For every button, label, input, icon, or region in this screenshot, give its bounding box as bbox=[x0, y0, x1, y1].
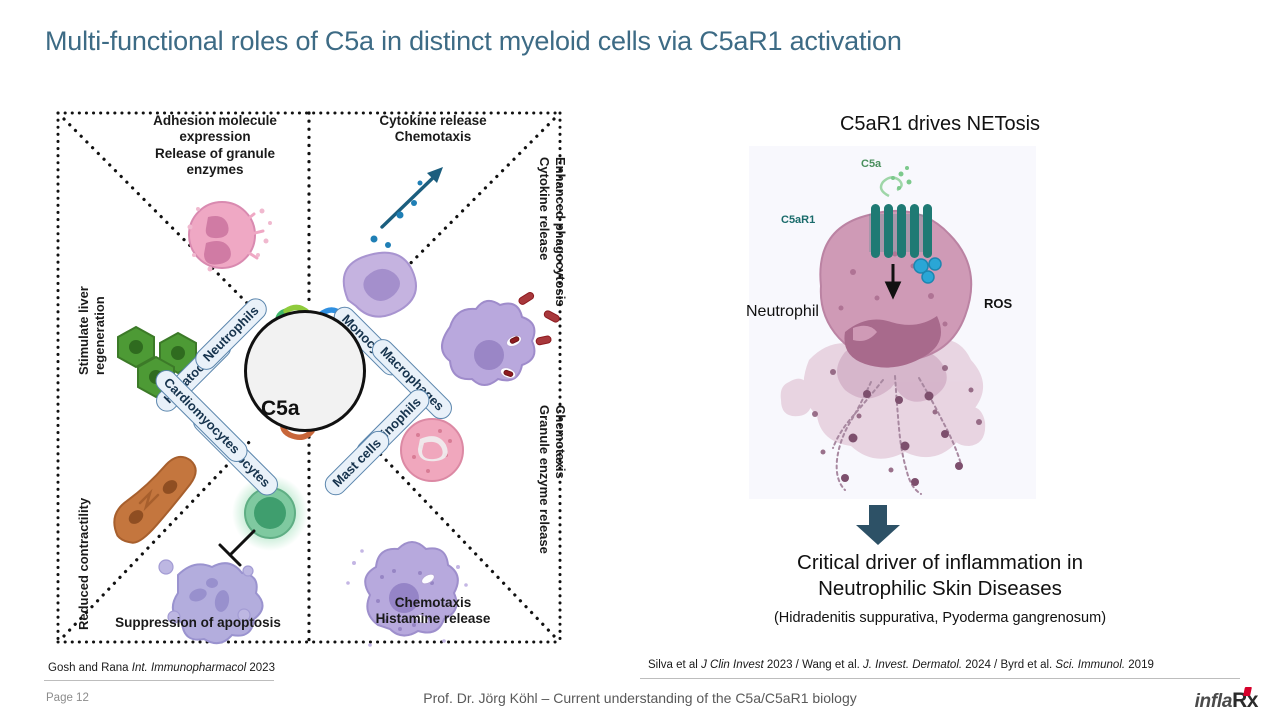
side-text-reduced-contractility: Reduced contractility bbox=[76, 498, 92, 630]
inflarx-logo: inflaRx bbox=[1195, 690, 1258, 711]
c5a-ligand-graphic bbox=[881, 166, 912, 196]
conclusion-line-2: Neutrophilic Skin Diseases bbox=[818, 577, 1062, 600]
citation-left-journal: Int. Immunopharmacol bbox=[132, 662, 246, 674]
netosis-graphics bbox=[749, 146, 1036, 499]
citation-r1-journal: J Clin Invest bbox=[701, 659, 764, 671]
slide-canvas: Multi-functional roles of C5a in distinc… bbox=[0, 0, 1280, 720]
quadrant-text-top-left: Adhesion moleculeexpressionRelease of gr… bbox=[120, 113, 310, 179]
inhibition-arrow-graphic bbox=[220, 531, 254, 565]
c5a-ligand-label: C5a bbox=[861, 158, 881, 170]
logo-accent-mark bbox=[1243, 687, 1252, 696]
side-text-chemotaxis-granule: ChemotaxisGranule enzyme release bbox=[537, 405, 568, 554]
netosis-figure: C5a C5aR1 ROS bbox=[749, 146, 1036, 499]
citation-rule-right bbox=[640, 678, 1240, 679]
netosis-panel: C5aR1 drives NETosis bbox=[620, 105, 1260, 650]
citation-r2-journal: J. Invest. Dermatol. bbox=[863, 659, 962, 671]
cell-cardiomyocyte-graphic bbox=[110, 456, 200, 544]
chemotaxis-arrow-graphic bbox=[371, 167, 444, 248]
c5ar1-receptor-label: C5aR1 bbox=[781, 214, 815, 226]
citation-rule-left bbox=[44, 680, 274, 681]
citation-r3-journal: Sci. Immunol. bbox=[1055, 659, 1125, 671]
citation-r3-authors: Byrd et al. bbox=[1000, 659, 1055, 671]
conclusion-subtext: (Hidradenitis suppurativa, Pyoderma gang… bbox=[620, 610, 1260, 626]
citation-r2-year: 2024 / bbox=[962, 659, 1000, 671]
c5a-center-circle: C5a bbox=[244, 310, 366, 432]
cell-neutrophil-graphic bbox=[188, 202, 273, 272]
citation-r2-authors: Wang et al. bbox=[802, 659, 863, 671]
citation-left: Gosh and Rana Int. Immunopharmacol 2023 bbox=[48, 662, 275, 674]
citation-right: Silva et al J Clin Invest 2023 / Wang et… bbox=[648, 659, 1154, 671]
citation-left-authors: Gosh and Rana bbox=[48, 662, 132, 674]
radial-diagram: C5a Adhesion moleculeexpressionRelease o… bbox=[48, 105, 570, 650]
down-arrow-icon bbox=[848, 505, 908, 545]
neutrophil-label: Neutrophil bbox=[746, 303, 819, 321]
citation-r3-year: 2019 bbox=[1125, 659, 1154, 671]
netosis-figure-title: C5aR1 drives NETosis bbox=[620, 113, 1260, 136]
conclusion-heading: Critical driver of inflammation in Neutr… bbox=[620, 550, 1260, 602]
footer-title: Prof. Dr. Jörg Köhl – Current understand… bbox=[0, 690, 1280, 706]
page-title: Multi-functional roles of C5a in distinc… bbox=[45, 26, 1145, 57]
quadrant-text-bottom-right: ChemotaxisHistamine release bbox=[333, 595, 533, 628]
citation-r1-year: 2023 / bbox=[764, 659, 802, 671]
cell-eosinophil-graphic bbox=[401, 419, 463, 481]
logo-text-infla: infla bbox=[1195, 691, 1233, 712]
c5a-center-label: C5a bbox=[261, 397, 300, 421]
c5a-radial-diagram-panel: C5a Adhesion moleculeexpressionRelease o… bbox=[48, 105, 570, 650]
quadrant-text-top-right: Cytokine releaseChemotaxis bbox=[338, 113, 528, 146]
side-text-stimulate-liver: Stimulate liverregeneration bbox=[76, 286, 107, 375]
citation-r1-authors: Silva et al bbox=[648, 659, 701, 671]
conclusion-line-1: Critical driver of inflammation in bbox=[797, 551, 1083, 574]
cell-monocyte-graphic bbox=[344, 253, 416, 317]
citation-left-year: 2023 bbox=[246, 662, 275, 674]
side-text-enhanced-phagocytosis: Enhanced phagocytosisCytokine release bbox=[537, 157, 568, 307]
ros-label: ROS bbox=[984, 296, 1012, 311]
quadrant-text-bottom-left: Suppression of apoptosis bbox=[73, 615, 323, 631]
